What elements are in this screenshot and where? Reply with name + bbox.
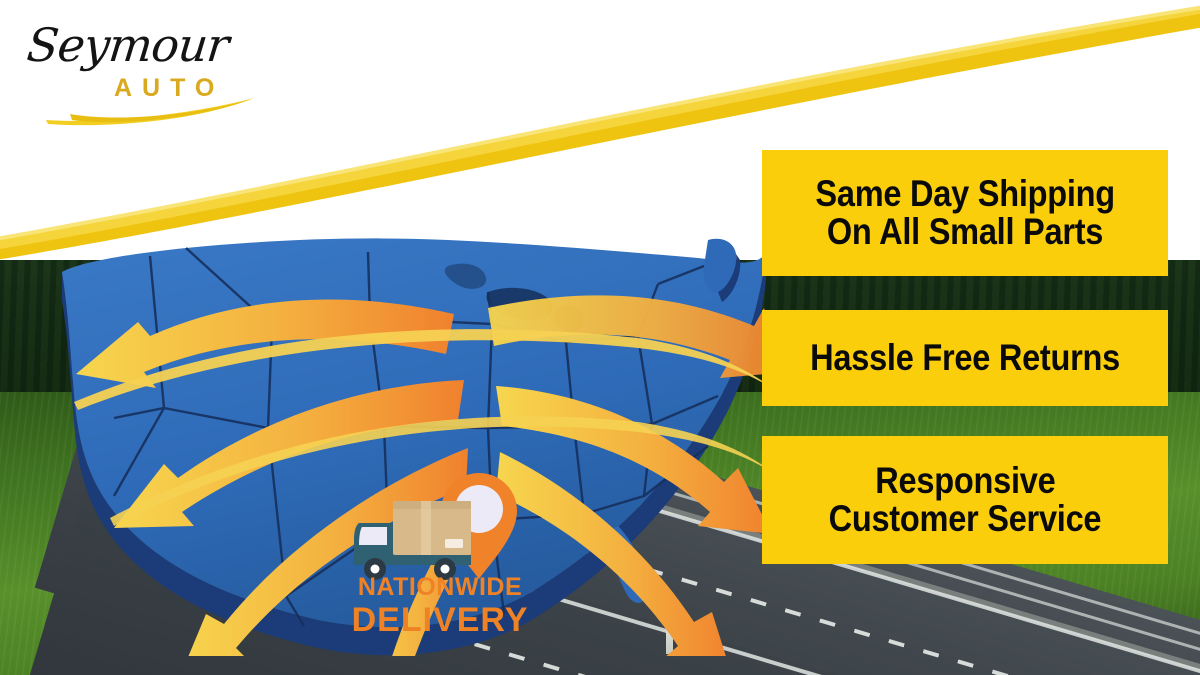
nationwide-delivery-caption: NATIONWIDE DELIVERY bbox=[345, 575, 535, 637]
delivery-truck-icon bbox=[353, 493, 483, 585]
feature-line: Customer Service bbox=[829, 500, 1102, 538]
feature-line: Hassle Free Returns bbox=[810, 339, 1120, 377]
delivery-badge: NATIONWIDE DELIVERY bbox=[343, 471, 543, 646]
feature-line: On All Small Parts bbox=[827, 213, 1103, 251]
feature-banner-hassle-free-returns[interactable]: Hassle Free Returns bbox=[762, 310, 1168, 406]
feature-banner-same-day-shipping[interactable]: Same Day Shipping On All Small Parts bbox=[762, 150, 1168, 276]
nationwide-label: NATIONWIDE bbox=[345, 575, 535, 600]
logo[interactable]: Seymour AUTO bbox=[26, 18, 256, 126]
logo-subtext: AUTO bbox=[114, 74, 224, 103]
promo-banner: Seymour AUTO bbox=[0, 0, 1200, 675]
usa-map-graphic: NATIONWIDE DELIVERY bbox=[18, 196, 788, 656]
feature-line: Same Day Shipping bbox=[815, 175, 1114, 213]
feature-banner-responsive-customer-service[interactable]: Responsive Customer Service bbox=[762, 436, 1168, 564]
feature-line: Responsive bbox=[875, 462, 1055, 500]
delivery-label: DELIVERY bbox=[345, 603, 535, 637]
